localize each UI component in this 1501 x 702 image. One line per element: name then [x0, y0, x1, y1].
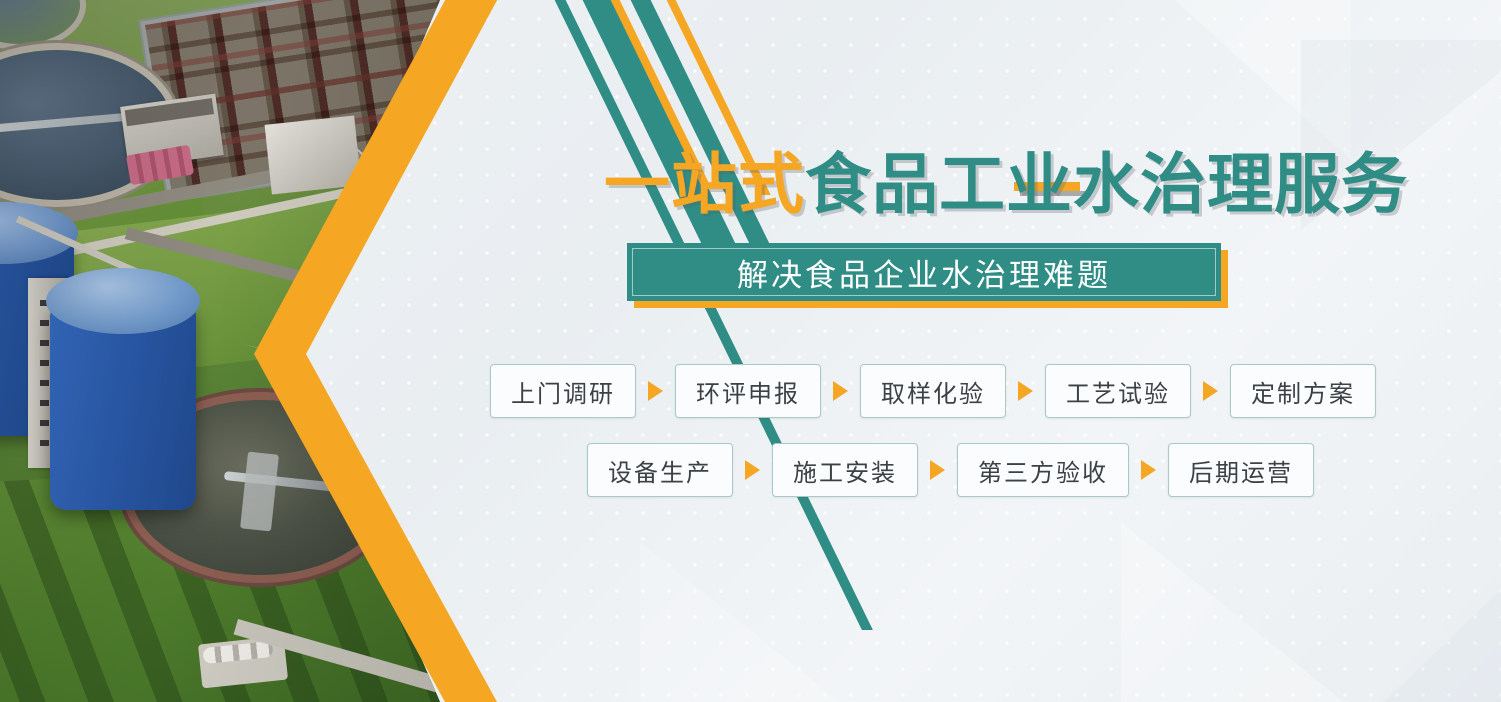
subtitle-text: 解决食品企业水治理难题 — [737, 250, 1111, 295]
subtitle-banner: 解决食品企业水治理难题 — [627, 243, 1221, 301]
arrow-right-icon — [833, 381, 848, 401]
arrow-right-icon — [1018, 381, 1033, 401]
arrow-right-icon — [1141, 460, 1156, 480]
process-steps: 上门调研 环评申报 取样化验 工艺试验 定制方案 设备生产 施工安装 第三方验收… — [490, 364, 1410, 522]
decor-triangle-e — [640, 542, 940, 702]
process-row-1: 上门调研 环评申报 取样化验 工艺试验 定制方案 — [490, 364, 1410, 418]
step-chip-dingzhifangan[interactable]: 定制方案 — [1230, 364, 1376, 418]
headline-rest: 食品工业水治理服务 — [805, 146, 1408, 223]
arrow-right-icon — [930, 460, 945, 480]
promo-banner: 一站式食品工业水治理服务 解决食品企业水治理难题 上门调研 环评申报 取样化验 … — [0, 0, 1501, 702]
step-chip-houqiyunying[interactable]: 后期运营 — [1168, 443, 1314, 497]
process-row-2: 设备生产 施工安装 第三方验收 后期运营 — [490, 443, 1410, 497]
step-chip-shigonganzhuang[interactable]: 施工安装 — [772, 443, 918, 497]
decor-triangle-d — [1321, 532, 1501, 702]
subtitle-bar: 解决食品企业水治理难题 — [627, 243, 1221, 301]
headline-highlight: 一站式 — [604, 146, 805, 223]
step-chip-quyanghuayan[interactable]: 取样化验 — [860, 364, 1006, 418]
arrow-right-icon — [745, 460, 760, 480]
step-chip-gongyishiyan[interactable]: 工艺试验 — [1045, 364, 1191, 418]
page-title: 一站式食品工业水治理服务 — [604, 152, 1408, 218]
step-chip-disanfangyanshou[interactable]: 第三方验收 — [957, 443, 1129, 497]
arrow-right-icon — [1203, 381, 1218, 401]
step-chip-shangmendiaoyan[interactable]: 上门调研 — [490, 364, 636, 418]
step-chip-shebeishengchan[interactable]: 设备生产 — [587, 443, 733, 497]
step-chip-huangpingshenbao[interactable]: 环评申报 — [675, 364, 821, 418]
arrow-right-icon — [648, 381, 663, 401]
